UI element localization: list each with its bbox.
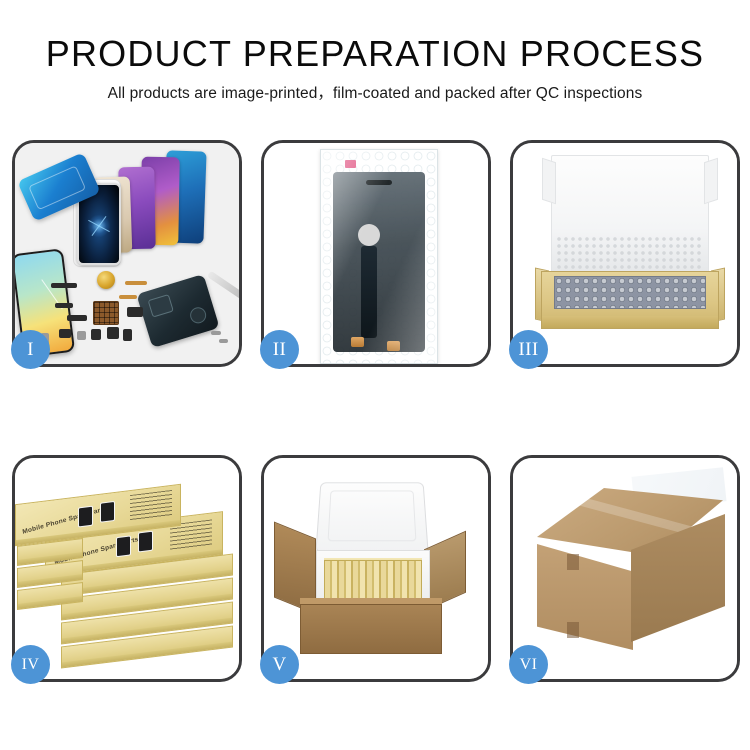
flex-cable-icon: [125, 281, 147, 285]
box-product-thumbnail-icon: [138, 531, 153, 553]
repair-screw-icon: [219, 339, 228, 343]
speaker-coil-icon: [97, 271, 115, 289]
repair-part-icon: [91, 329, 101, 340]
foam-texture: [556, 236, 704, 272]
orange-connector-icon: [387, 341, 400, 351]
repair-part-icon: [67, 315, 87, 321]
step-5-image: [264, 458, 488, 679]
step-2-image: [264, 143, 488, 364]
bubble-wrap-bag-icon: [320, 149, 438, 364]
process-step-panel-4: Mobile Phone Spare Parts: [12, 455, 242, 682]
repair-part-icon: [51, 283, 77, 288]
flex-cable-icon: [361, 246, 377, 338]
repair-screw-icon: [211, 331, 221, 335]
flex-cable-icon: [119, 295, 137, 299]
carton-tape-mark-icon: [567, 554, 579, 570]
step-numeral-badge: II: [260, 330, 299, 369]
step-1-image: [15, 143, 239, 364]
step-6-image: [513, 458, 737, 679]
phone-screen-assembly-icon: [333, 172, 425, 352]
repair-part-icon: [123, 329, 132, 341]
process-step-panel-5: V: [261, 455, 491, 682]
box-product-thumbnail-icon: [78, 506, 93, 528]
page-title: PRODUCT PREPARATION PROCESS: [0, 33, 750, 75]
chip-grid-icon: [93, 301, 119, 325]
process-step-panel-1: I: [12, 140, 242, 367]
crack-pattern-icon: [86, 213, 112, 239]
step-numeral-badge: I: [11, 330, 50, 369]
process-step-panel-3: III: [510, 140, 740, 367]
repair-part-icon: [107, 327, 119, 339]
step-numeral-badge: VI: [509, 645, 548, 684]
step-numeral-badge: III: [509, 330, 548, 369]
product-preparation-process-page: PRODUCT PREPARATION PROCESS All products…: [0, 0, 750, 750]
carton-tape-mark-icon: [567, 622, 579, 638]
carton-front-face-icon: [300, 604, 442, 654]
page-subtitle: All products are image-printed，film-coat…: [0, 84, 750, 104]
repair-part-icon: [59, 329, 71, 338]
step-4-image: Mobile Phone Spare Parts: [15, 458, 239, 679]
repair-part-icon: [55, 303, 73, 308]
pink-qc-label-icon: [345, 160, 356, 168]
process-steps-grid: I II: [12, 140, 740, 682]
process-step-panel-6: VI: [510, 455, 740, 682]
process-step-panel-2: II: [261, 140, 491, 367]
inner-yellow-boxes-icon: [324, 560, 422, 600]
step-3-image: [513, 143, 737, 364]
box-spec-lines: [130, 490, 172, 521]
white-foam-sheet-icon: [551, 155, 709, 273]
box-product-thumbnail-icon: [116, 535, 131, 557]
repair-part-icon: [77, 331, 86, 340]
step-numeral-badge: V: [260, 645, 299, 684]
foam-cooler-lid-icon: [315, 482, 428, 553]
page-header: PRODUCT PREPARATION PROCESS All products…: [0, 33, 750, 104]
repair-part-icon: [127, 307, 143, 317]
step-numeral-badge: IV: [11, 645, 50, 684]
kraft-box-tray-icon: [541, 271, 719, 329]
grey-bubble-wrap-icon: [554, 276, 706, 309]
orange-connector-icon: [351, 337, 364, 347]
box-product-thumbnail-icon: [100, 501, 115, 523]
